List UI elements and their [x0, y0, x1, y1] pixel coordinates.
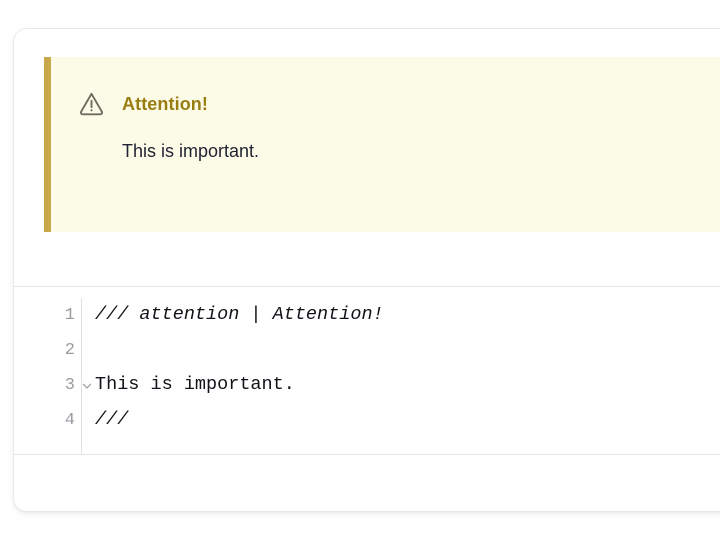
warning-triangle-icon — [78, 90, 105, 117]
code-line[interactable]: /// — [95, 403, 720, 438]
line-number: 4 — [65, 412, 75, 429]
preview-pane: Attention! This is important. — [14, 29, 720, 287]
line-number: 1 — [65, 307, 75, 324]
screenshot-root: Attention! This is important. 1 2 3 — [0, 0, 720, 544]
callout-header: Attention! — [51, 57, 720, 117]
line-number: 2 — [65, 342, 75, 359]
card-footer — [14, 455, 720, 510]
code-line-text: /// attention | Attention! — [95, 306, 384, 325]
code-line-text: /// — [95, 411, 128, 430]
doc-preview-card: Attention! This is important. 1 2 3 — [13, 28, 720, 512]
gutter-row: 1 — [14, 298, 81, 333]
line-number: 3 — [65, 377, 75, 394]
gutter-row: 3 — [14, 368, 81, 403]
gutter-row: 4 — [14, 403, 81, 438]
line-number-gutter: 1 2 3 4 — [14, 298, 82, 454]
callout-attention: Attention! This is important. — [44, 57, 720, 232]
gutter-row: 2 — [14, 333, 81, 368]
code-content[interactable]: /// attention | Attention! This is impor… — [82, 298, 720, 454]
code-line[interactable]: This is important. — [95, 368, 720, 403]
callout-body-text: This is important. — [51, 117, 720, 164]
code-line-text: This is important. — [95, 376, 295, 395]
code-editor[interactable]: 1 2 3 4 — [14, 287, 720, 455]
callout-title: Attention! — [122, 95, 208, 113]
code-line[interactable]: /// attention | Attention! — [95, 298, 720, 333]
code-line[interactable] — [95, 333, 720, 368]
